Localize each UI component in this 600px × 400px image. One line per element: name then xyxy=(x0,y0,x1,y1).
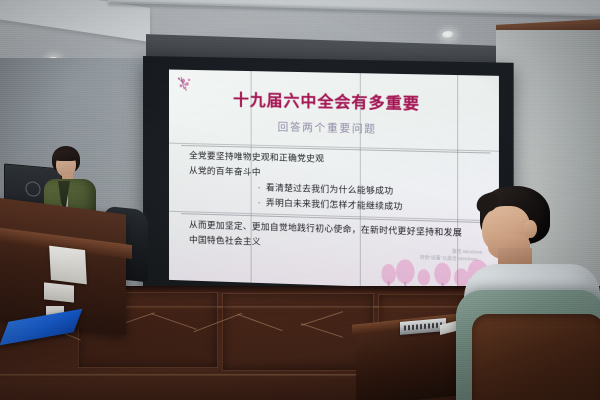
slide-bullet-text: 弄明白未来我们怎样才能继续成功 xyxy=(266,198,403,212)
papers xyxy=(44,282,74,302)
bullet-dot-icon: · xyxy=(258,198,261,208)
slide-title: 十九届六中全会有多重要 xyxy=(169,87,486,116)
leather-executive-chair xyxy=(472,314,600,400)
seated-attendee xyxy=(462,186,600,400)
attendee-ear xyxy=(524,220,537,238)
panel-seam-vertical xyxy=(360,73,361,286)
video-wall-screen: 十九届六中全会有多重要 回答两个重要问题 全党要坚持唯物史观和正确党史观 从党的… xyxy=(169,70,499,292)
papers xyxy=(49,246,87,285)
conference-room-photo: 十九届六中全会有多重要 回答两个重要问题 全党要坚持唯物史观和正确党史观 从党的… xyxy=(0,0,600,400)
ceiling-downlight-icon xyxy=(442,31,455,39)
presentation-slide: 十九届六中全会有多重要 回答两个重要问题 全党要坚持唯物史观和正确党史观 从党的… xyxy=(169,70,499,292)
bullet-dot-icon: · xyxy=(258,183,261,193)
panel-seam-vertical xyxy=(251,71,252,283)
slide-bullet-text: 看清楚过去我们为什么能够成功 xyxy=(266,183,394,197)
panel-seam-vertical xyxy=(457,75,458,290)
slide-body: 全党要坚持唯物史观和正确党史观 从党的百年奋斗中 ·看清楚过去我们为什么能够成功… xyxy=(189,151,493,220)
presenter-bangs xyxy=(53,150,79,161)
lcd-video-wall[interactable]: 十九届六中全会有多重要 回答两个重要问题 全党要坚持唯物史观和正确党史观 从党的… xyxy=(143,56,514,319)
slide-subtitle: 回答两个重要问题 xyxy=(169,117,488,140)
slide-body-line: 从党的百年奋斗中 xyxy=(189,166,493,183)
